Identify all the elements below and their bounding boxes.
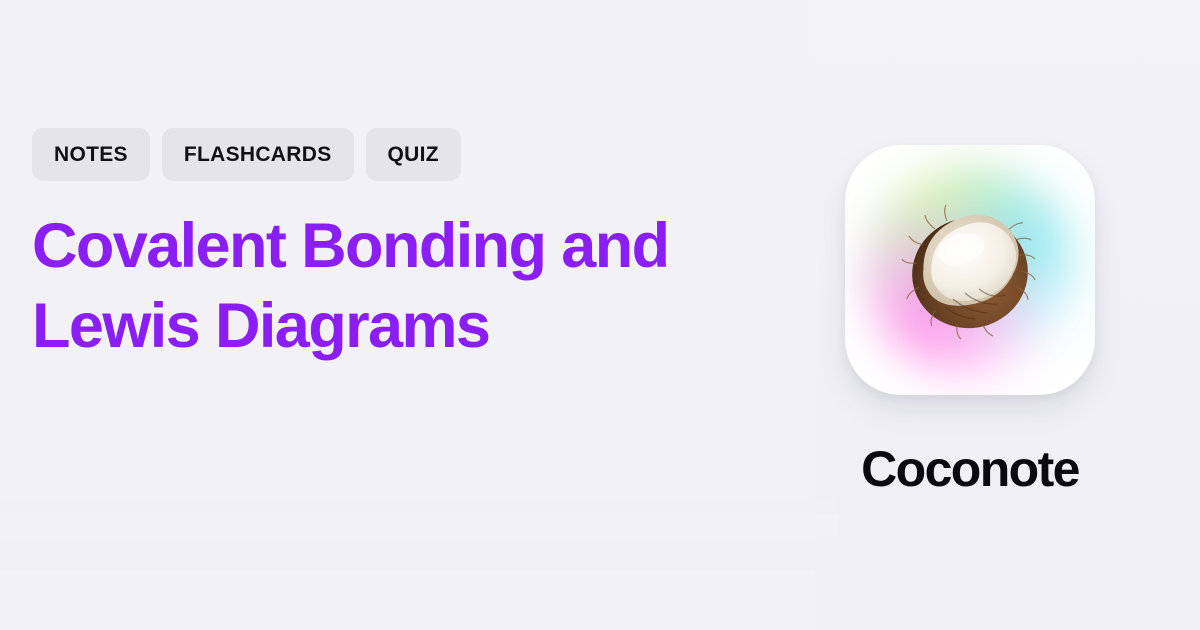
tag-notes[interactable]: NOTES xyxy=(32,128,150,181)
page-title: Covalent Bonding and Lewis Diagrams xyxy=(32,206,792,366)
tag-flashcards[interactable]: FLASHCARDS xyxy=(162,128,354,181)
share-card: NOTES FLASHCARDS QUIZ Covalent Bonding a… xyxy=(0,0,1200,630)
placeholder-band xyxy=(0,540,838,570)
content-column: NOTES FLASHCARDS QUIZ Covalent Bonding a… xyxy=(32,0,792,630)
tag-quiz[interactable]: QUIZ xyxy=(366,128,461,181)
brand-wordmark: Coconote xyxy=(845,440,1095,498)
brand-column: Coconote xyxy=(845,145,1095,395)
placeholder-band xyxy=(0,514,838,536)
placeholder-band xyxy=(0,498,838,512)
placeholder-content xyxy=(0,498,838,570)
app-icon xyxy=(845,145,1095,395)
coconut-icon xyxy=(895,195,1045,345)
tag-row: NOTES FLASHCARDS QUIZ xyxy=(32,128,461,181)
